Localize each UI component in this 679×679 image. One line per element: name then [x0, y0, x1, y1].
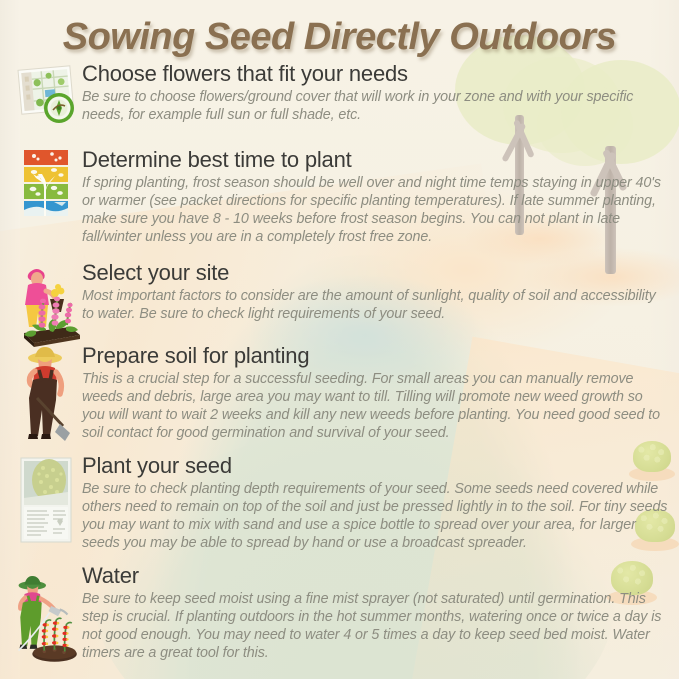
- steps-list: Choose flowers that fit your needs Be su…: [0, 62, 679, 676]
- step-item: Plant your seed Be sure to check plantin…: [0, 454, 679, 564]
- four-seasons-bars-icon: [18, 148, 74, 222]
- gardener-with-flower-planter-icon: [10, 261, 82, 349]
- step-heading: Prepare soil for planting: [82, 344, 669, 369]
- step-heading: Plant your seed: [82, 454, 669, 479]
- step-item: Choose flowers that fit your needs Be su…: [0, 62, 679, 148]
- step-heading: Water: [82, 564, 669, 589]
- farmer-with-shovel-icon: [15, 344, 77, 444]
- page-title: Sowing Seed Directly Outdoors: [0, 16, 679, 59]
- seed-packet-icon: [17, 454, 75, 546]
- step-text: Most important factors to consider are t…: [82, 287, 669, 323]
- gardener-watering-flowers-icon: [10, 564, 82, 672]
- step-text: Be sure to choose flowers/ground cover t…: [82, 88, 669, 124]
- step-heading: Select your site: [82, 261, 669, 286]
- step-item: Determine best time to plant If spring p…: [0, 148, 679, 261]
- step-heading: Determine best time to plant: [82, 148, 669, 173]
- step-heading: Choose flowers that fit your needs: [82, 62, 669, 87]
- step-text: If spring planting, frost season should …: [82, 174, 669, 246]
- step-text: Be sure to keep seed moist using a fine …: [82, 590, 669, 662]
- step-text: This is a crucial step for a successful …: [82, 370, 669, 442]
- infographic-poster: Sowing Seed Directly Outdoors: [0, 0, 679, 679]
- garden-plan-map-icon: [15, 62, 77, 128]
- step-item: Water Be sure to keep seed moist using a…: [0, 564, 679, 676]
- step-item: Prepare soil for planting This is a cruc…: [0, 344, 679, 454]
- step-item: Select your site Most important factors …: [0, 261, 679, 344]
- step-text: Be sure to check planting depth requirem…: [82, 480, 669, 552]
